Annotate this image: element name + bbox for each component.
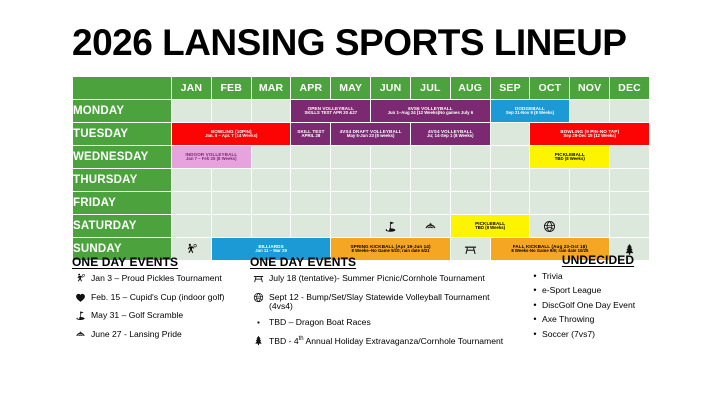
month-header-aug: AUG	[450, 77, 490, 100]
empty-cell	[570, 192, 610, 215]
legend-item: Sept 12 - Bump/Set/Slay Statewide Volley…	[250, 292, 515, 313]
legend-item: •e-Sport League	[528, 285, 668, 296]
calendar-row-saturday: SATURDAYPICKLEBALLTBD (8 Weeks)	[73, 215, 650, 238]
empty-cell	[291, 169, 331, 192]
event-pickleball[interactable]: PICKLEBALLTBD (8 Weeks)	[530, 146, 610, 169]
event-4vs4-draft-volleyball[interactable]: 4VS4 DRAFT VOLLEYBALLMay 5-Jun 23 (8 wee…	[331, 123, 411, 146]
empty-cell	[450, 192, 490, 215]
empty-cell	[211, 215, 251, 238]
empty-cell	[610, 169, 650, 192]
month-header-jun: JUN	[371, 77, 411, 100]
calendar-row-thursday: THURSDAY	[73, 169, 650, 192]
day-label-wednesday: WEDNESDAY	[73, 146, 172, 169]
legend-item: •Soccer (7vs7)	[528, 329, 668, 340]
empty-cell	[251, 146, 291, 169]
sports-calendar: JANFEBMARAPRMAYJUNJULAUGSEPOCTNOVDECMOND…	[72, 76, 650, 261]
event-dates: Sep 29-Dec 15 (12 Weeks)	[530, 134, 649, 139]
legend-item: •DiscGolf One Day Event	[528, 300, 668, 311]
event-dates: Jan 7 – Feb 25 (8 Weeks)	[172, 157, 251, 162]
empty-cell	[331, 192, 371, 215]
day-label-saturday: SATURDAY	[73, 215, 172, 238]
volleyball-icon	[530, 215, 570, 238]
empty-cell	[570, 100, 610, 123]
empty-cell	[172, 100, 212, 123]
legend-item-text: TBD – Dragon Boat Races	[269, 317, 371, 328]
event-open-volleyball[interactable]: OPEN VOLLEYBALLSKILLS TEST APR 20 &27	[291, 100, 371, 123]
legend-item-text: May 31 – Golf Scramble	[91, 310, 183, 321]
event-bowling-9-pin-no-tap[interactable]: BOWLING (9 PIN-NO TAP)Sep 29-Dec 15 (12 …	[530, 123, 650, 146]
calendar-body: JANFEBMARAPRMAYJUNJULAUGSEPOCTNOVDECMOND…	[73, 77, 650, 261]
empty-cell	[410, 192, 450, 215]
event-6vs6-volleyball[interactable]: 6VS6 VOLLEYBALLJun 1–Aug 24 (12 Weeks)No…	[371, 100, 490, 123]
empty-cell	[450, 146, 490, 169]
empty-cell	[291, 192, 331, 215]
empty-cell	[450, 169, 490, 192]
empty-cell	[251, 169, 291, 192]
legend-undecided: UNDECIDED •Trivia•e-Sport League•DiscGol…	[528, 253, 668, 343]
legend-item: TBD - 4th Annual Holiday Extravaganza/Co…	[250, 335, 515, 349]
empty-cell	[490, 169, 530, 192]
event-dates: 8 Weeks–No Game 5/10; rain date 6/21	[331, 249, 449, 254]
empty-cell	[211, 192, 251, 215]
pride-icon	[72, 329, 88, 343]
empty-cell	[172, 192, 212, 215]
empty-cell	[331, 146, 371, 169]
legend-heading: ONE DAY EVENTS	[72, 255, 262, 269]
bullet-icon: •	[528, 329, 542, 339]
heart-golf-icon	[72, 292, 88, 306]
legend-items: Jan 3 – Proud Pickles TournamentFeb. 15 …	[72, 273, 262, 343]
day-label-tuesday: TUESDAY	[73, 123, 172, 146]
event-skill-test[interactable]: SKILL TESTAPRIL 28	[291, 123, 331, 146]
month-header-feb: FEB	[211, 77, 251, 100]
tree-icon	[250, 335, 266, 349]
day-label-monday: MONDAY	[73, 100, 172, 123]
month-header-dec: DEC	[610, 77, 650, 100]
legend-item-text: June 27 - Lansing Pride	[91, 329, 182, 340]
bullet-icon: •	[528, 314, 542, 324]
legend-item: •Trivia	[528, 271, 668, 282]
volleyball-icon	[250, 292, 266, 306]
calendar-row-friday: FRIDAY	[73, 192, 650, 215]
legend-heading: ONE DAY EVENTS	[250, 255, 515, 269]
event-indoor-volleyball[interactable]: INDOOR VOLLEYBALLJan 7 – Feb 25 (8 Weeks…	[172, 146, 252, 169]
legend-item-text: e-Sport League	[542, 285, 601, 296]
legend-item-text: TBD - 4th Annual Holiday Extravaganza/Co…	[269, 335, 503, 347]
calendar-header-row: JANFEBMARAPRMAYJUNJULAUGSEPOCTNOVDEC	[73, 77, 650, 100]
legend-heading: UNDECIDED	[528, 253, 668, 267]
event-dates: Jan. 6 – Apr. 7 (14 Weeks)	[172, 134, 290, 139]
event-dates: Jun 1–Aug 24 (12 Weeks)No games July 6	[371, 111, 489, 116]
legend-items: July 18 (tentative)- Summer Picnic/Cornh…	[250, 273, 515, 349]
empty-cell	[530, 192, 570, 215]
month-header-apr: APR	[291, 77, 331, 100]
day-label-friday: FRIDAY	[73, 192, 172, 215]
legend-one-day-events-1: ONE DAY EVENTS Jan 3 – Proud Pickles Tou…	[72, 255, 262, 347]
empty-cell	[490, 192, 530, 215]
empty-cell	[410, 169, 450, 192]
calendar-row-wednesday: WEDNESDAYINDOOR VOLLEYBALLJan 7 – Feb 25…	[73, 146, 650, 169]
month-header-oct: OCT	[530, 77, 570, 100]
month-header-jan: JAN	[172, 77, 212, 100]
empty-cell	[211, 100, 251, 123]
empty-cell	[371, 169, 411, 192]
legend-item: TBD – Dragon Boat Races	[250, 317, 515, 331]
legend-one-day-events-2: ONE DAY EVENTS July 18 (tentative)- Summ…	[250, 255, 515, 354]
empty-cell	[610, 192, 650, 215]
page-title: 2026 LANSING SPORTS LINEUP	[72, 22, 626, 64]
empty-cell	[172, 215, 212, 238]
legend-item-text: Sept 12 - Bump/Set/Slay Statewide Volley…	[269, 292, 515, 313]
event-dates: Ju; 14-Sep 1 (8 Weeks)	[411, 134, 490, 139]
event-dates: May 5-Jun 23 (8 weeks)	[331, 134, 410, 139]
legend-item-text: DiscGolf One Day Event	[542, 300, 635, 311]
pickleball-player-icon	[72, 273, 88, 287]
bullet-icon: •	[528, 285, 542, 295]
event-dates: TBD (8 Weeks)	[530, 157, 609, 162]
legend-item-text: Jan 3 – Proud Pickles Tournament	[91, 273, 222, 284]
empty-cell	[251, 192, 291, 215]
empty-cell	[610, 146, 650, 169]
event-dates: SKILLS TEST APR 20 &27	[291, 111, 370, 116]
month-header-sep: SEP	[490, 77, 530, 100]
empty-cell	[371, 146, 411, 169]
month-header-mar: MAR	[251, 77, 291, 100]
empty-cell	[570, 169, 610, 192]
empty-cell	[331, 215, 371, 238]
empty-cell	[410, 146, 450, 169]
calendar-corner-cell	[73, 77, 172, 100]
legend-item-text: July 18 (tentative)- Summer Picnic/Cornh…	[269, 273, 485, 284]
empty-cell	[331, 169, 371, 192]
legend-item: Jan 3 – Proud Pickles Tournament	[72, 273, 262, 287]
day-label-thursday: THURSDAY	[73, 169, 172, 192]
event-4vs4-volleyball[interactable]: 4VS4 VOLLEYBALLJu; 14-Sep 1 (8 Weeks)	[410, 123, 490, 146]
event-bowling-10pin[interactable]: BOWLING (10PIN)Jan. 6 – Apr. 7 (14 Weeks…	[172, 123, 291, 146]
empty-cell	[490, 123, 530, 146]
legend-item-text: Trivia	[542, 271, 563, 282]
legend-item-text: Axe Throwing	[542, 314, 594, 325]
event-dates: TBD (8 Weeks)	[451, 226, 530, 231]
legend-item: June 27 - Lansing Pride	[72, 329, 262, 343]
golf-icon	[371, 215, 411, 238]
event-dodgeball[interactable]: DODGEBALLSep 21-Nov 9 (8 Weeks)	[490, 100, 570, 123]
event-dates: Jan 11 – Mar 29	[212, 249, 330, 254]
legend-item-text: Feb. 15 – Cupid's Cup (indoor golf)	[91, 292, 224, 303]
bullet-icon: •	[528, 300, 542, 310]
empty-cell	[530, 169, 570, 192]
month-header-jul: JUL	[410, 77, 450, 100]
empty-cell	[490, 146, 530, 169]
empty-cell	[251, 100, 291, 123]
picnic-table-icon	[250, 273, 266, 287]
month-header-nov: NOV	[570, 77, 610, 100]
empty-cell	[570, 215, 610, 238]
event-dates: APRIL 28	[291, 134, 330, 139]
bullet-icon: •	[528, 271, 542, 281]
empty-cell	[291, 146, 331, 169]
legend-item: July 18 (tentative)- Summer Picnic/Cornh…	[250, 273, 515, 287]
calendar-row-monday: MONDAYOPEN VOLLEYBALLSKILLS TEST APR 20 …	[73, 100, 650, 123]
legend-item: Feb. 15 – Cupid's Cup (indoor golf)	[72, 292, 262, 306]
empty-cell	[610, 215, 650, 238]
pride-icon	[410, 215, 450, 238]
month-header-may: MAY	[331, 77, 371, 100]
legend-item-text: Soccer (7vs7)	[542, 329, 595, 340]
bullet-icon	[250, 317, 266, 331]
event-dates: Sep 21-Nov 9 (8 Weeks)	[491, 111, 570, 116]
empty-cell	[211, 169, 251, 192]
empty-cell	[610, 100, 650, 123]
event-pickleball[interactable]: PICKLEBALLTBD (8 Weeks)	[450, 215, 530, 238]
calendar-row-tuesday: TUESDAYBOWLING (10PIN)Jan. 6 – Apr. 7 (1…	[73, 123, 650, 146]
empty-cell	[291, 215, 331, 238]
empty-cell	[371, 192, 411, 215]
legend-item: •Axe Throwing	[528, 314, 668, 325]
golf-icon	[72, 310, 88, 324]
legend-items: •Trivia•e-Sport League•DiscGolf One Day …	[528, 271, 668, 339]
empty-cell	[172, 169, 212, 192]
legend-item: May 31 – Golf Scramble	[72, 310, 262, 324]
empty-cell	[251, 215, 291, 238]
